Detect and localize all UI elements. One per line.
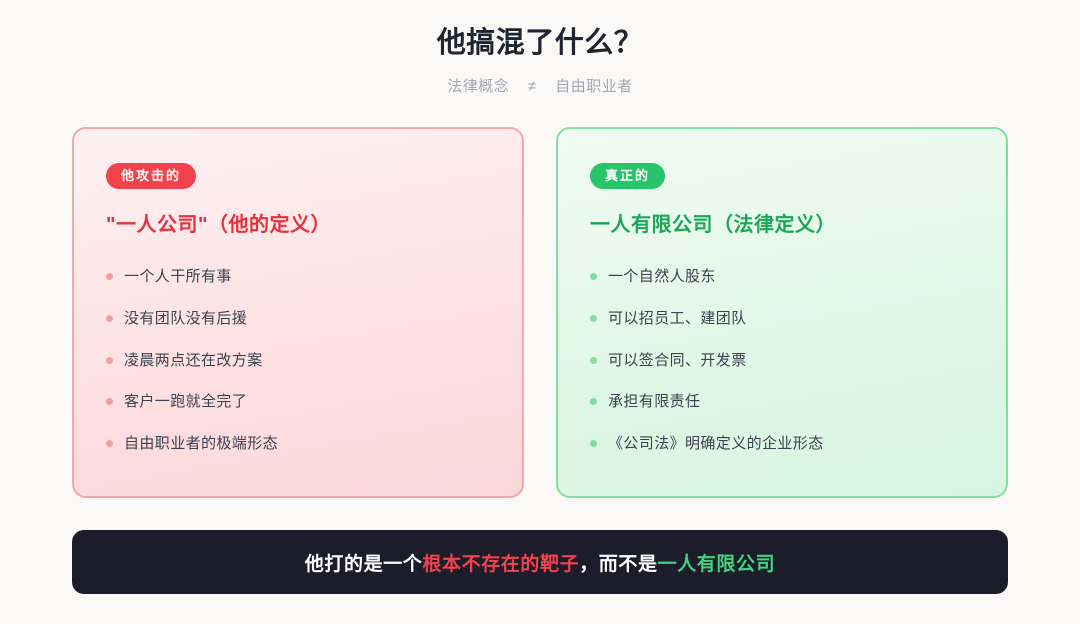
list-item: 可以签合同、开发票 bbox=[590, 350, 974, 372]
conclusion-highlight-red: 根本不存在的靶子 bbox=[422, 549, 579, 576]
list-item-label: 一个人干所有事 bbox=[124, 266, 232, 288]
list-item: 《公司法》明确定义的企业形态 bbox=[590, 433, 974, 455]
card-correct-list: 一个自然人股东 可以招员工、建团队 可以签合同、开发票 承担有限责任 《公司法》… bbox=[590, 266, 974, 455]
comparison-infographic: 他搞混了什么？ 法律概念 ≠ 自由职业者 他攻击的 "一人公司"（他的定义） 一… bbox=[0, 0, 1080, 624]
card-correct-title: 一人有限公司（法律定义） bbox=[590, 211, 974, 239]
subtitle-left-term: 法律概念 bbox=[447, 78, 509, 95]
list-item: 可以招员工、建团队 bbox=[590, 308, 974, 330]
bullet-dot-icon bbox=[106, 357, 113, 364]
list-item: 一个人干所有事 bbox=[106, 266, 490, 288]
bullet-dot-icon bbox=[590, 357, 597, 364]
subtitle: 法律概念 ≠ 自由职业者 bbox=[72, 75, 1008, 96]
bullet-dot-icon bbox=[590, 273, 597, 280]
list-item-label: 自由职业者的极端形态 bbox=[124, 433, 278, 455]
bullet-dot-icon bbox=[590, 398, 597, 405]
list-item-label: 承担有限责任 bbox=[608, 391, 700, 413]
header: 他搞混了什么？ 法律概念 ≠ 自由职业者 bbox=[72, 0, 1008, 96]
list-item-label: 一个自然人股东 bbox=[608, 266, 716, 288]
list-item-label: 可以签合同、开发票 bbox=[608, 350, 747, 372]
bullet-dot-icon bbox=[106, 273, 113, 280]
list-item: 一个自然人股东 bbox=[590, 266, 974, 288]
bullet-dot-icon bbox=[590, 315, 597, 322]
subtitle-right-term: 自由职业者 bbox=[555, 78, 633, 95]
list-item-label: 客户一跑就全完了 bbox=[124, 391, 247, 413]
conclusion-highlight-green: 一人有限公司 bbox=[658, 549, 776, 576]
card-correct-definition: 真正的 一人有限公司（法律定义） 一个自然人股东 可以招员工、建团队 可以签合同… bbox=[556, 127, 1008, 498]
list-item-label: 《公司法》明确定义的企业形态 bbox=[608, 433, 824, 455]
list-item: 没有团队没有后援 bbox=[106, 308, 490, 330]
list-item: 凌晨两点还在改方案 bbox=[106, 350, 490, 372]
list-item-label: 可以招员工、建团队 bbox=[608, 308, 747, 330]
bullet-dot-icon bbox=[106, 440, 113, 447]
badge-correct: 真正的 bbox=[590, 163, 665, 189]
list-item-label: 没有团队没有后援 bbox=[124, 308, 247, 330]
conclusion-part-1: 他打的是一个 bbox=[305, 549, 423, 576]
list-item-label: 凌晨两点还在改方案 bbox=[124, 350, 263, 372]
badge-wrong: 他攻击的 bbox=[106, 163, 196, 189]
conclusion-part-2: ，而不是 bbox=[579, 549, 657, 576]
page-title: 他搞混了什么？ bbox=[72, 24, 1008, 63]
card-wrong-title: "一人公司"（他的定义） bbox=[106, 211, 490, 239]
cards-row: 他攻击的 "一人公司"（他的定义） 一个人干所有事 没有团队没有后援 凌晨两点还… bbox=[72, 127, 1008, 498]
not-equal-icon: ≠ bbox=[514, 78, 551, 95]
bullet-dot-icon bbox=[106, 315, 113, 322]
card-wrong-definition: 他攻击的 "一人公司"（他的定义） 一个人干所有事 没有团队没有后援 凌晨两点还… bbox=[72, 127, 524, 498]
bullet-dot-icon bbox=[590, 440, 597, 447]
bullet-dot-icon bbox=[106, 398, 113, 405]
card-wrong-list: 一个人干所有事 没有团队没有后援 凌晨两点还在改方案 客户一跑就全完了 自由职业… bbox=[106, 266, 490, 455]
list-item: 承担有限责任 bbox=[590, 391, 974, 413]
conclusion-banner: 他打的是一个根本不存在的靶子，而不是一人有限公司 bbox=[72, 530, 1008, 594]
list-item: 客户一跑就全完了 bbox=[106, 391, 490, 413]
list-item: 自由职业者的极端形态 bbox=[106, 433, 490, 455]
